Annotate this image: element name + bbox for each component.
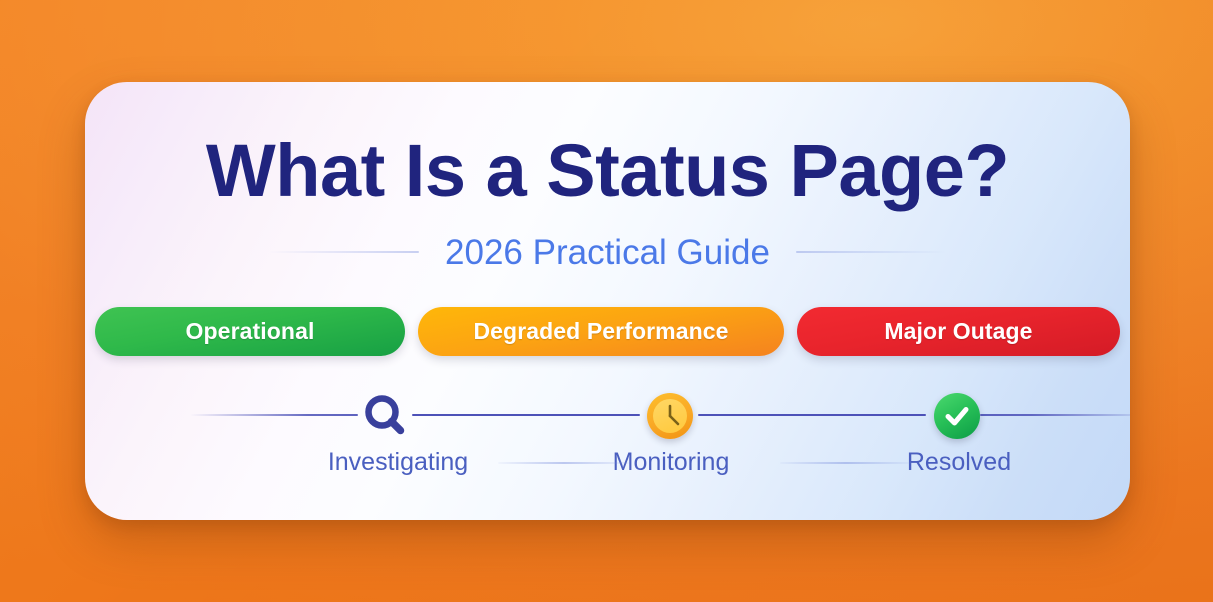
timeline-label-monitoring: Monitoring (613, 450, 730, 475)
timeline-node-monitoring[interactable] (644, 390, 696, 442)
status-pill-degraded-performance[interactable]: Degraded Performance (418, 307, 784, 356)
subtitle-row: 2026 Practical Guide (85, 230, 1130, 274)
clock-face (653, 399, 687, 433)
status-pill-operational[interactable]: Operational (95, 307, 405, 356)
status-pill-group: Operational Degraded Performance Major O… (85, 307, 1130, 356)
timeline-track (190, 414, 1025, 417)
page-subtitle: 2026 Practical Guide (445, 235, 770, 270)
page-title: What Is a Status Page? (85, 134, 1130, 208)
timeline-label-rule-1 (498, 462, 630, 464)
timeline-segment-end (980, 414, 1130, 416)
timeline-label-investigating: Investigating (328, 450, 468, 475)
subtitle-rule-left (269, 251, 419, 253)
timeline-label-rule-2 (780, 462, 912, 464)
clock-hands-icon (653, 399, 687, 433)
checkmark-icon (942, 401, 972, 431)
timeline-segment-1 (412, 414, 640, 416)
status-pill-major-outage[interactable]: Major Outage (797, 307, 1120, 356)
timeline-label-resolved: Resolved (907, 450, 1011, 475)
status-page-card: What Is a Status Page? 2026 Practical Gu… (85, 82, 1130, 520)
timeline-node-resolved[interactable] (931, 390, 983, 442)
magnifying-glass-icon (362, 393, 408, 439)
subtitle-rule-right (796, 251, 946, 253)
timeline-segment-start (190, 414, 358, 416)
incident-timeline: Investigating Monitoring (190, 382, 1025, 482)
clock-icon (647, 393, 693, 439)
infographic-canvas: What Is a Status Page? 2026 Practical Gu… (0, 0, 1213, 602)
timeline-node-investigating[interactable] (359, 390, 411, 442)
timeline-segment-2 (698, 414, 926, 416)
check-circle-icon (934, 393, 980, 439)
